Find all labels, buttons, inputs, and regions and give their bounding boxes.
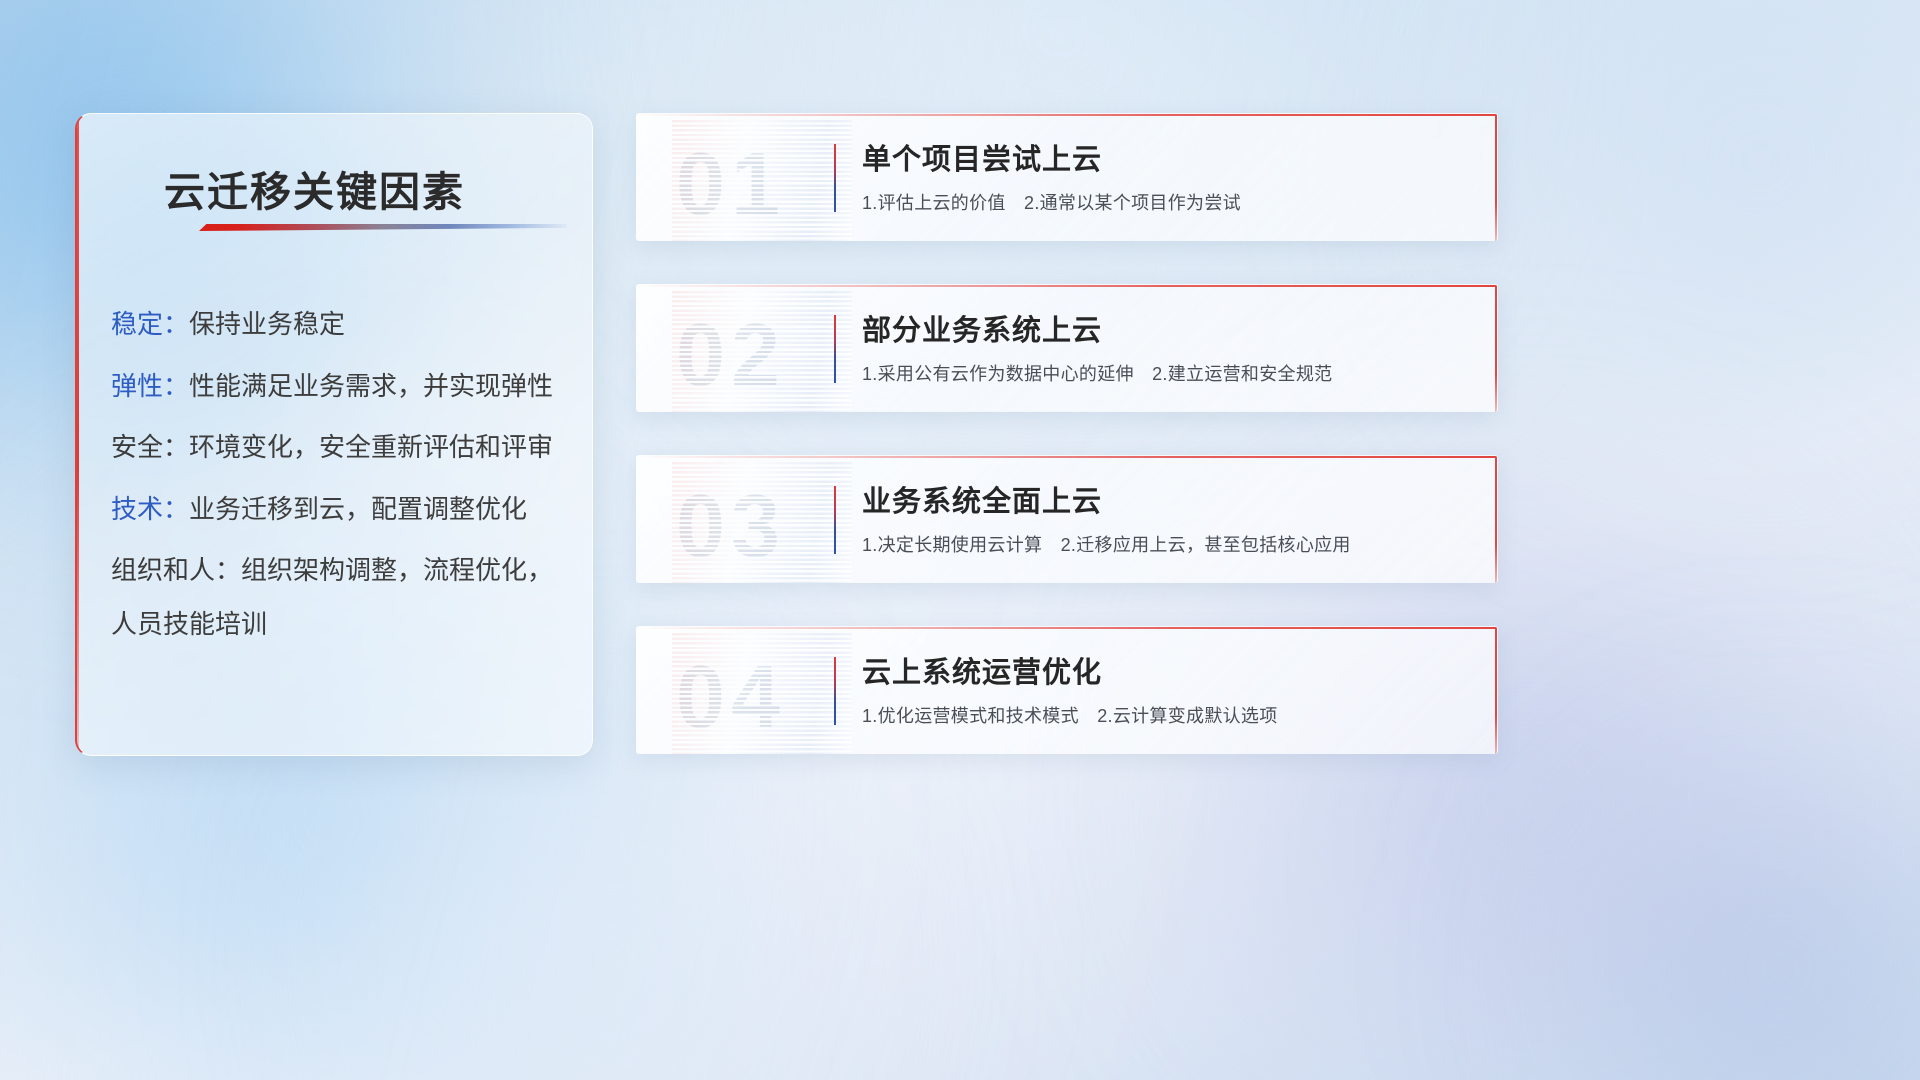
key-factor-label: 稳定： <box>111 309 189 339</box>
stage-card[interactable]: 02部分业务系统上云1.采用公有云作为数据中心的延伸 2.建立运营和安全规范 <box>636 284 1498 412</box>
key-factor-row: 稳定：保持业务稳定 <box>77 310 592 339</box>
stage-number: 02 <box>676 291 786 412</box>
key-factor-row: 人员技能培训 <box>77 610 592 639</box>
key-factor-label: 组织和人： <box>111 555 241 585</box>
stage-title: 业务系统全面上云 <box>862 478 1102 520</box>
key-factor-label: 安全： <box>111 432 189 462</box>
stage-cards-list: 01单个项目尝试上云1.评估上云的价值 2.通常以某个项目作为尝试02部分业务系… <box>636 113 1498 797</box>
stage-number: 03 <box>676 462 786 583</box>
key-factor-value: 保持业务稳定 <box>189 309 345 339</box>
title-underline-rule <box>199 224 567 231</box>
stage-number: 01 <box>676 120 786 241</box>
stage-divider-bar <box>834 486 836 554</box>
key-factors-list: 稳定：保持业务稳定弹性：性能满足业务需求，并实现弹性安全：环境变化，安全重新评估… <box>77 310 592 672</box>
key-factor-row: 安全：环境变化，安全重新评估和评审 <box>77 433 592 462</box>
stage-title: 单个项目尝试上云 <box>862 136 1102 178</box>
key-factor-value: 组织架构调整，流程优化， <box>241 555 553 585</box>
key-factors-panel: 云迁移关键因素 稳定：保持业务稳定弹性：性能满足业务需求，并实现弹性安全：环境变… <box>75 113 593 756</box>
stage-divider-bar <box>834 657 836 725</box>
key-factor-row: 组织和人：组织架构调整，流程优化， <box>77 556 592 585</box>
stage-number: 04 <box>676 633 786 754</box>
stage-card[interactable]: 01单个项目尝试上云1.评估上云的价值 2.通常以某个项目作为尝试 <box>636 113 1498 241</box>
page-title: 云迁移关键因素 <box>164 158 465 218</box>
key-factor-value: 业务迁移到云，配置调整优化 <box>189 494 527 524</box>
key-factor-value: 性能满足业务需求，并实现弹性 <box>189 371 553 401</box>
slide-stage: 云迁移关键因素 稳定：保持业务稳定弹性：性能满足业务需求，并实现弹性安全：环境变… <box>0 0 1920 1080</box>
stage-subtitle: 1.优化运营模式和技术模式 2.云计算变成默认选项 <box>862 702 1278 728</box>
stage-title: 云上系统运营优化 <box>862 649 1102 691</box>
key-factor-row: 技术：业务迁移到云，配置调整优化 <box>77 495 592 524</box>
key-factor-label: 技术： <box>111 494 189 524</box>
stage-title: 部分业务系统上云 <box>862 307 1102 349</box>
stage-subtitle: 1.决定长期使用云计算 2.迁移应用上云，甚至包括核心应用 <box>862 531 1351 557</box>
stage-card[interactable]: 03业务系统全面上云1.决定长期使用云计算 2.迁移应用上云，甚至包括核心应用 <box>636 455 1498 583</box>
stage-divider-bar <box>834 315 836 383</box>
key-factor-value: 环境变化，安全重新评估和评审 <box>189 432 553 462</box>
stage-divider-bar <box>834 144 836 212</box>
stage-subtitle: 1.评估上云的价值 2.通常以某个项目作为尝试 <box>862 189 1241 215</box>
key-factor-label: 弹性： <box>111 371 189 401</box>
key-factor-value: 人员技能培训 <box>111 609 267 639</box>
key-factor-row: 弹性：性能满足业务需求，并实现弹性 <box>77 372 592 401</box>
stage-card[interactable]: 04云上系统运营优化1.优化运营模式和技术模式 2.云计算变成默认选项 <box>636 626 1498 754</box>
stage-subtitle: 1.采用公有云作为数据中心的延伸 2.建立运营和安全规范 <box>862 360 1332 386</box>
